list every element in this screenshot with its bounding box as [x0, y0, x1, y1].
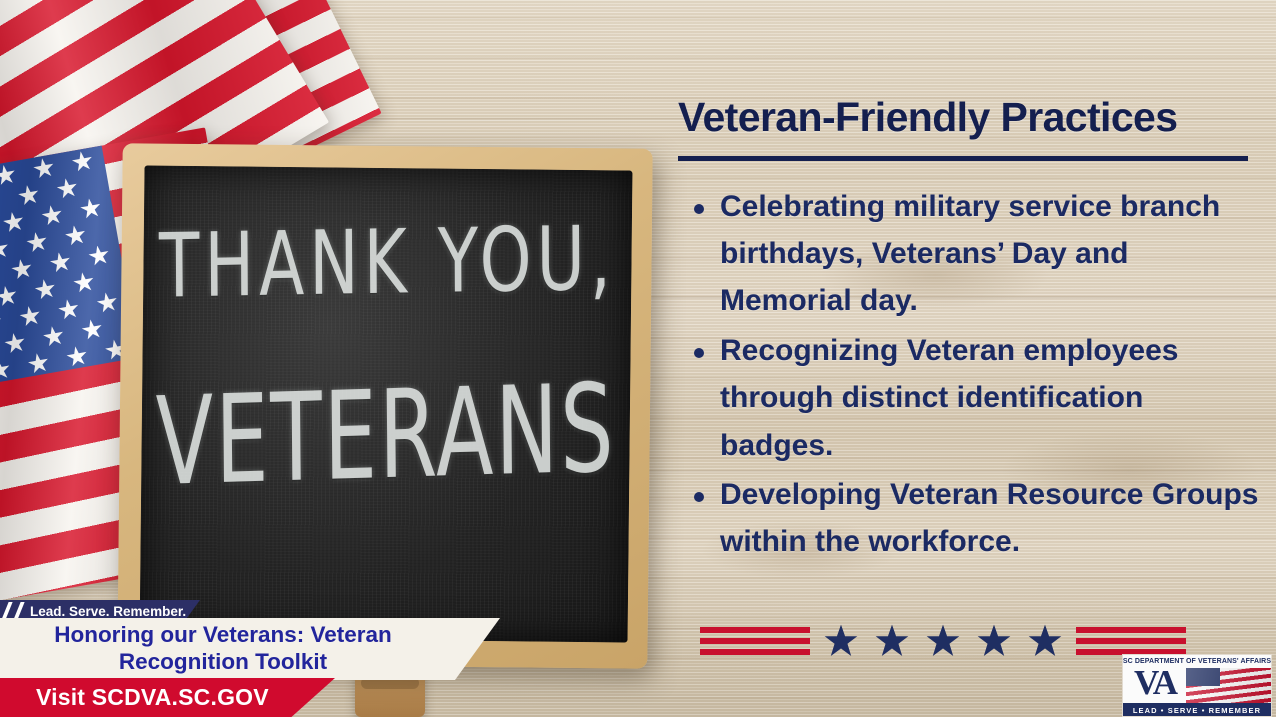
content-panel: Veteran-Friendly Practices Celebrating m… [678, 96, 1262, 568]
chalk-text-line-2: VETERANS [141, 357, 630, 514]
headline-band: Honoring our Veterans: Veteran Recogniti… [0, 618, 500, 680]
bullet-text: Recognizing Veteran employees through di… [720, 334, 1178, 462]
stripe-bar [700, 649, 810, 655]
bullet-list: Celebrating military service branch birt… [678, 183, 1262, 566]
logo-monogram-row: VA [1123, 668, 1271, 703]
bullet-item: Celebrating military service branch birt… [678, 183, 1262, 325]
star-icon [824, 624, 858, 658]
chalkboard-surface: THANK YOU, VETERANS [140, 165, 633, 642]
scdva-logo: SC DEPARTMENT OF VETERANS' AFFAIRS VA LE… [1122, 654, 1272, 717]
bullet-text: Developing Veteran Resource Groups withi… [720, 478, 1259, 558]
website-url-text[interactable]: Visit SCDVA.SC.GOV [36, 684, 269, 711]
star-icon [977, 624, 1011, 658]
stripes-right [1076, 627, 1186, 655]
star-row [824, 624, 1062, 658]
bullet-dot-icon [694, 348, 704, 358]
star-icon [875, 624, 909, 658]
logo-motto: LEAD • SERVE • REMEMBER [1123, 703, 1271, 717]
star-icon [926, 624, 960, 658]
title-underline [678, 156, 1248, 161]
bullet-text: Celebrating military service branch birt… [720, 190, 1220, 318]
star-icon [1028, 624, 1062, 658]
headline-text: Honoring our Veterans: Veteran Recogniti… [18, 622, 428, 675]
page-title: Veteran-Friendly Practices [678, 96, 1262, 139]
bullet-dot-icon [694, 204, 704, 214]
stripe-bar [1076, 638, 1186, 644]
url-band[interactable]: Visit SCDVA.SC.GOV [0, 678, 335, 717]
stripe-bar [700, 627, 810, 633]
chalkboard: THANK YOU, VETERANS [117, 143, 652, 669]
bullet-item: Developing Veteran Resource Groups withi… [678, 471, 1262, 566]
tagline-text: Lead. Serve. Remember. [30, 604, 186, 619]
chalk-text-line-1: THANK YOU, [143, 207, 632, 319]
logo-va-monogram: VA [1134, 668, 1176, 703]
slide-canvas: THANK YOU, VETERANS Veteran-Friendly Pra… [0, 0, 1276, 717]
stripe-bar [700, 638, 810, 644]
logo-flag-icon [1186, 668, 1271, 703]
bullet-dot-icon [694, 492, 704, 502]
logo-agency-name: SC DEPARTMENT OF VETERANS' AFFAIRS [1123, 655, 1271, 668]
stripe-bar [1076, 627, 1186, 633]
stripes-left [700, 627, 810, 655]
bullet-item: Recognizing Veteran employees through di… [678, 327, 1262, 469]
